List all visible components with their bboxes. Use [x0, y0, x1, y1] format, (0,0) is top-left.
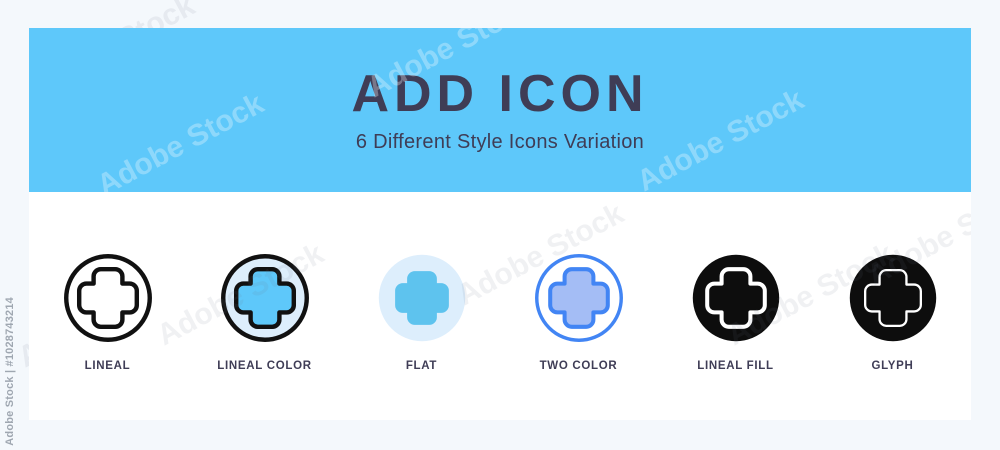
icon-variant-label: LINEAL FILL	[697, 360, 773, 372]
watermark-tile: Adobe Stock	[92, 87, 270, 203]
icon-variant-label: GLYPH	[871, 360, 913, 372]
adobe-stock-watermark: Adobe Stock | #1028743214	[4, 297, 16, 446]
page-subtitle: 6 Different Style Icons Variation	[356, 132, 644, 152]
icon-variant-two-color[interactable]: TWO COLOR	[504, 250, 654, 372]
header-band: Adobe Stock Adobe Stock Adobe Stock ADD …	[29, 28, 971, 192]
icon-variant-label: TWO COLOR	[540, 360, 618, 372]
plus-icon	[217, 250, 313, 346]
watermark-tile: Adobe Stock	[632, 83, 810, 199]
icon-sheet-card: Adobe Stock Adobe Stock Adobe Stock ADD …	[29, 28, 971, 420]
icon-variant-label: LINEAL COLOR	[217, 360, 311, 372]
icon-variant-label: LINEAL	[85, 360, 131, 372]
plus-icon	[531, 250, 627, 346]
plus-icon	[845, 250, 941, 346]
icon-variant-label: FLAT	[406, 360, 437, 372]
icon-variant-glyph[interactable]: GLYPH	[818, 250, 968, 372]
icon-variant-flat[interactable]: FLAT	[347, 250, 497, 372]
plus-icon	[688, 250, 784, 346]
plus-icon	[374, 250, 470, 346]
icon-variant-lineal-color[interactable]: LINEAL COLOR	[190, 250, 340, 372]
icon-variant-lineal-fill[interactable]: LINEAL FILL	[661, 250, 811, 372]
icon-variants-row: LINEAL LINEAL COLOR FLAT TWO COLOR	[29, 192, 971, 420]
page-title: ADD ICON	[351, 68, 648, 120]
icon-variant-lineal[interactable]: LINEAL	[33, 250, 183, 372]
plus-icon	[60, 250, 156, 346]
